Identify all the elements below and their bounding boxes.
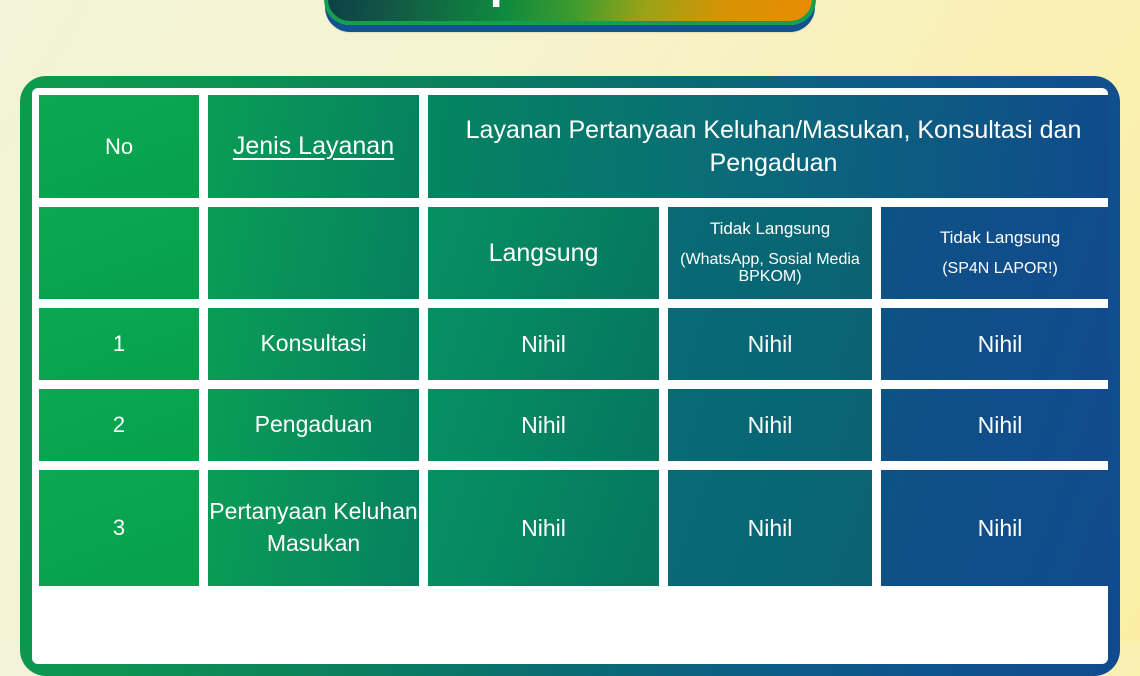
header-cell-no: No <box>37 93 201 200</box>
table-header-row-2: Langsung Tidak Langsung (WhatsApp, Sosia… <box>37 205 1108 301</box>
header-sub-line-2: (WhatsApp, Sosial Media BPKOM) <box>668 252 872 286</box>
cell-langsung: Nihil <box>426 387 661 463</box>
cell-tidak-langsung-wa: Nihil <box>666 468 874 588</box>
cell-tidak-langsung-sp4n: Nihil <box>879 306 1108 382</box>
cell-jenis-layanan: Pengaduan <box>206 387 421 463</box>
cell-tidak-langsung-wa: Nihil <box>666 306 874 382</box>
table-row: 3 Pertanyaan Keluhan Masukan Nihil Nihil… <box>37 468 1108 588</box>
header-cell-tidak-langsung-wa: Tidak Langsung (WhatsApp, Sosial Media B… <box>666 205 874 301</box>
table-inner: No Jenis Layanan Layanan Pertanyaan Kelu… <box>32 88 1108 664</box>
table-row: 1 Konsultasi Nihil Nihil Nihil <box>37 306 1108 382</box>
service-report-table: No Jenis Layanan Layanan Pertanyaan Kelu… <box>32 88 1108 593</box>
cell-no: 2 <box>37 387 201 463</box>
header-cell-tidak-langsung-sp4n: Tidak Langsung (SP4N LAPOR!) <box>879 205 1108 301</box>
page-title: April 2023 <box>374 0 766 5</box>
header-cell-no-empty <box>37 205 201 301</box>
title-banner-container: April 2023 <box>0 0 1140 25</box>
cell-jenis-layanan: Pertanyaan Keluhan Masukan <box>206 468 421 588</box>
cell-langsung: Nihil <box>426 306 661 382</box>
cell-tidak-langsung-sp4n: Nihil <box>879 387 1108 463</box>
table-row: 2 Pengaduan Nihil Nihil Nihil <box>37 387 1108 463</box>
cell-langsung: Nihil <box>426 468 661 588</box>
header-cell-jenis-layanan: Jenis Layanan <box>206 93 421 200</box>
header-sub-line-2: (SP4N LAPOR!) <box>881 261 1108 278</box>
cell-tidak-langsung-sp4n: Nihil <box>879 468 1108 588</box>
title-banner: April 2023 <box>324 0 816 25</box>
cell-tidak-langsung-wa: Nihil <box>666 387 874 463</box>
cell-no: 3 <box>37 468 201 588</box>
header-cell-merged-group: Layanan Pertanyaan Keluhan/Masukan, Kons… <box>426 93 1108 200</box>
header-sub-line-1: Tidak Langsung <box>710 219 830 238</box>
cell-jenis-layanan: Konsultasi <box>206 306 421 382</box>
table-header-row-1: No Jenis Layanan Layanan Pertanyaan Kelu… <box>37 93 1108 200</box>
header-cell-langsung: Langsung <box>426 205 661 301</box>
header-sub-line-1: Tidak Langsung <box>940 228 1060 247</box>
header-cell-jenis-empty <box>206 205 421 301</box>
table-frame: No Jenis Layanan Layanan Pertanyaan Kelu… <box>20 76 1120 676</box>
cell-no: 1 <box>37 306 201 382</box>
